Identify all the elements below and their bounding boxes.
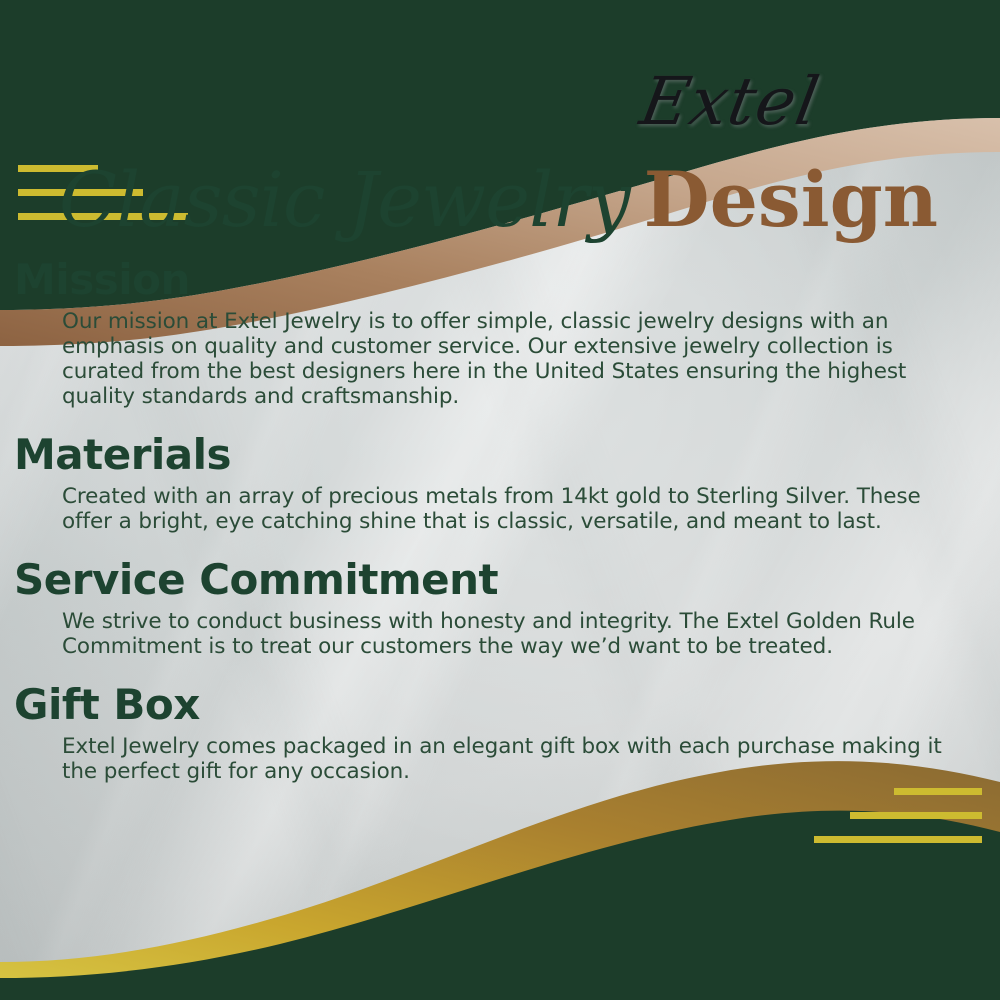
gold-line bbox=[894, 788, 982, 795]
section-heading-service-commitment: Service Commitment bbox=[14, 556, 1000, 605]
gold-line bbox=[850, 812, 982, 819]
section-gift-box: Gift Box Extel Jewelry comes packaged in… bbox=[0, 681, 1000, 784]
section-heading-mission: Mission bbox=[14, 256, 1000, 305]
section-body-service-commitment: We strive to conduct business with hones… bbox=[62, 609, 966, 659]
title-primary: Classic Jewelry bbox=[59, 162, 644, 238]
section-body-materials: Created with an array of precious metals… bbox=[62, 484, 966, 534]
section-body-mission: Our mission at Extel Jewelry is to offer… bbox=[62, 309, 966, 410]
section-materials: Materials Created with an array of preci… bbox=[0, 431, 1000, 534]
content-sections: Mission Our mission at Extel Jewelry is … bbox=[0, 256, 1000, 792]
decorative-lines-bottom-right bbox=[814, 788, 982, 843]
poster-title: Classic Jewelry Design bbox=[0, 152, 1000, 248]
poster-canvas: Extel Classic Jewelry Design Mission Our… bbox=[0, 0, 1000, 1000]
section-mission: Mission Our mission at Extel Jewelry is … bbox=[0, 256, 1000, 409]
title-secondary: Design bbox=[644, 162, 938, 238]
section-heading-gift-box: Gift Box bbox=[14, 681, 1000, 730]
brand-logo: Extel bbox=[593, 62, 867, 142]
section-heading-materials: Materials bbox=[14, 431, 1000, 480]
section-body-gift-box: Extel Jewelry comes packaged in an elega… bbox=[62, 734, 966, 784]
section-service-commitment: Service Commitment We strive to conduct … bbox=[0, 556, 1000, 659]
gold-line bbox=[814, 836, 982, 843]
